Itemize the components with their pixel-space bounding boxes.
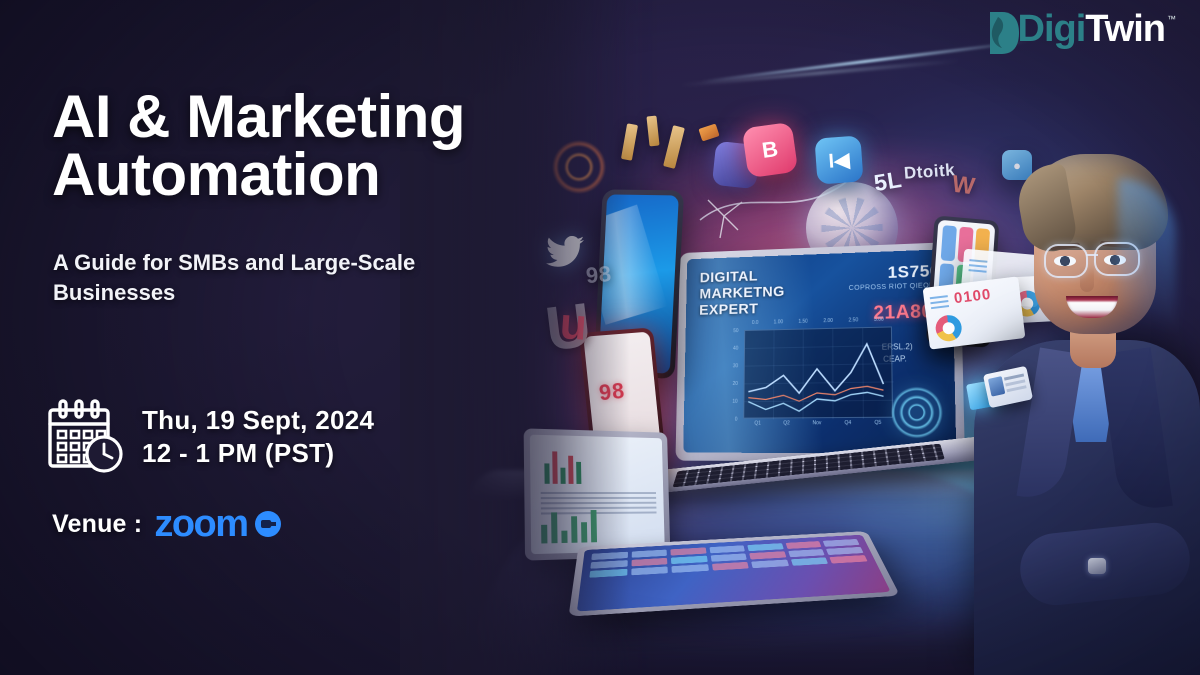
page-subtitle: A Guide for SMBs and Large-Scale Busines… [53, 248, 523, 307]
card-lines [930, 295, 950, 312]
calendar-clock-icon [46, 398, 128, 476]
title-line-1: AI & Marketing [52, 88, 552, 146]
schedule-block: Thu, 19 Sept, 2024 12 - 1 PM (PST) [46, 398, 374, 476]
eyeglasses-bridge [1086, 254, 1098, 256]
x-tick-top: 2.00 [823, 318, 833, 324]
laptop-screen: DIGITAL MARKETNG EXPERT 1S756 COPROSS RI… [683, 249, 956, 453]
zoom-camera-icon [255, 511, 281, 537]
x-tick: Q2 [783, 420, 790, 426]
screen-headline: DIGITAL MARKETNG EXPERT [699, 268, 785, 319]
digitwin-d-mark-icon [987, 10, 1021, 56]
text-content-panel: AI & Marketing Automation A Guide for SM… [0, 0, 560, 675]
x-tick: Nov [813, 420, 822, 426]
x-tick-top: 1.50 [798, 319, 808, 325]
event-date: Thu, 19 Sept, 2024 [142, 405, 374, 436]
x-tick: Q5 [874, 420, 881, 426]
venue-label: Venue : [52, 510, 142, 539]
line-chart-svg [744, 327, 894, 419]
screen-chart-y-axis: 50 40 30 20 10 0 [720, 328, 739, 423]
x-tick-top: 0.0 [752, 320, 759, 326]
zoom-logo[interactable]: zoom [154, 505, 280, 543]
x-tick-top: 1.00 [774, 319, 783, 325]
presenter-rim-light [1118, 178, 1176, 378]
x-tick: Q4 [844, 420, 851, 426]
title-line-2: Automation [52, 146, 552, 204]
x-tick-top: 2.50 [849, 317, 859, 323]
logo-text-digi: Digi [1018, 10, 1086, 48]
eyeglasses-lens-left [1044, 244, 1088, 278]
app-tile [941, 225, 957, 261]
x-tick: Q1 [754, 421, 761, 427]
y-tick: 40 [733, 346, 738, 352]
badge-lines [1004, 373, 1024, 380]
screen-chart-x-axis: Q1 Q2 Nov Q4 Q5 [743, 420, 893, 427]
page-title: AI & Marketing Automation [52, 88, 552, 203]
y-tick: 0 [735, 417, 738, 423]
logo-trademark: ™ [1167, 14, 1176, 24]
venue-block: Venue : zoom [52, 505, 281, 543]
event-time: 12 - 1 PM (PST) [142, 438, 374, 469]
x-tick-top: 3.00 [874, 317, 884, 323]
badge-photo [988, 376, 1005, 397]
presenter-figure [968, 58, 1200, 675]
y-tick: 30 [733, 363, 738, 369]
y-tick: 50 [733, 328, 738, 334]
floating-text: 5L [872, 166, 904, 197]
screen-line-chart [743, 326, 893, 418]
webinar-promo-banner: B I◀ ● DIGITAL MARKETNG EXPERT 1S756 COP… [0, 0, 1200, 675]
laptop-device: DIGITAL MARKETNG EXPERT 1S756 COPROSS RI… [672, 245, 960, 460]
schedule-text: Thu, 19 Sept, 2024 12 - 1 PM (PST) [142, 405, 374, 469]
dashboard-tiles [586, 539, 880, 606]
media-bubble-icon: I◀ [814, 135, 863, 184]
donut-chart-icon [934, 314, 963, 343]
wristwatch-icon [1088, 558, 1106, 574]
digitwin-logo[interactable]: Digi Twin ™ [987, 10, 1177, 56]
fingerprint-spiral-icon [884, 380, 949, 444]
logo-text-twin: Twin [1085, 10, 1165, 48]
y-tick: 10 [732, 399, 737, 405]
zoom-wordmark: zoom [154, 505, 247, 543]
floating-text: Dtoitk [903, 160, 955, 184]
screen-headline-line3: EXPERT [699, 300, 785, 319]
chat-bubble-icon: B [742, 122, 798, 178]
y-tick: 20 [732, 381, 737, 387]
